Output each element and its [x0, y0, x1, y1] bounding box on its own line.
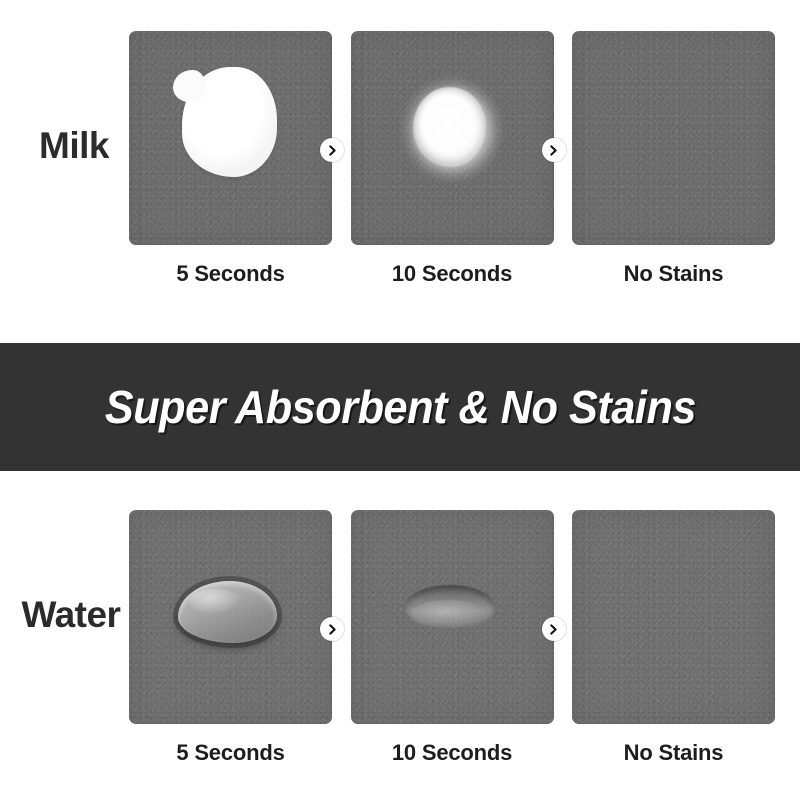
demo-row-milk: Milk 5 Seconds [0, 31, 800, 301]
demo-row-water: Water 5 Seconds [0, 510, 800, 782]
chevron-right-icon[interactable] [542, 138, 566, 162]
panel-cell-milk-5-seconds[interactable]: 5 Seconds [129, 31, 332, 245]
fabric-swatch [129, 31, 332, 245]
panel-cell-milk-no-stains[interactable]: No Stains [572, 31, 775, 245]
panel-cell-water-no-stains[interactable]: No Stains [572, 510, 775, 724]
chevron-right-icon[interactable] [320, 138, 344, 162]
panel-cell-water-10-seconds[interactable]: 10 Seconds [351, 510, 554, 724]
headline-banner: Super Absorbent & No Stains [0, 343, 800, 471]
fabric-swatch [351, 31, 554, 245]
fabric-swatch-clean [572, 510, 775, 724]
panel-caption: 5 Seconds [129, 740, 332, 766]
fabric-swatch [351, 510, 554, 724]
milk-stain-absorbing [395, 70, 509, 190]
absorbency-infographic: Milk 5 Seconds [0, 0, 800, 800]
panel-cell-water-5-seconds[interactable]: 5 Seconds [129, 510, 332, 724]
panel-caption: 10 Seconds [351, 740, 554, 766]
milk-stain-fresh [182, 67, 277, 176]
panel-caption: No Stains [572, 740, 775, 766]
chevron-right-icon[interactable] [320, 617, 344, 641]
panel-caption: No Stains [572, 261, 775, 287]
panel-strip-water: 5 Seconds 10 Seconds No Stains [129, 510, 775, 724]
water-stain-absorbing [405, 585, 494, 630]
fabric-swatch-clean [572, 31, 775, 245]
panel-strip-milk: 5 Seconds 10 Seconds No Stains [129, 31, 775, 245]
headline-text: Super Absorbent & No Stains [104, 380, 695, 434]
water-stain-fresh [178, 581, 277, 643]
panel-caption: 5 Seconds [129, 261, 332, 287]
panel-caption: 10 Seconds [351, 261, 554, 287]
row-label-water: Water [6, 596, 136, 633]
fabric-swatch [129, 510, 332, 724]
row-label-milk: Milk [18, 127, 130, 164]
chevron-right-icon[interactable] [542, 617, 566, 641]
panel-cell-milk-10-seconds[interactable]: 10 Seconds [351, 31, 554, 245]
